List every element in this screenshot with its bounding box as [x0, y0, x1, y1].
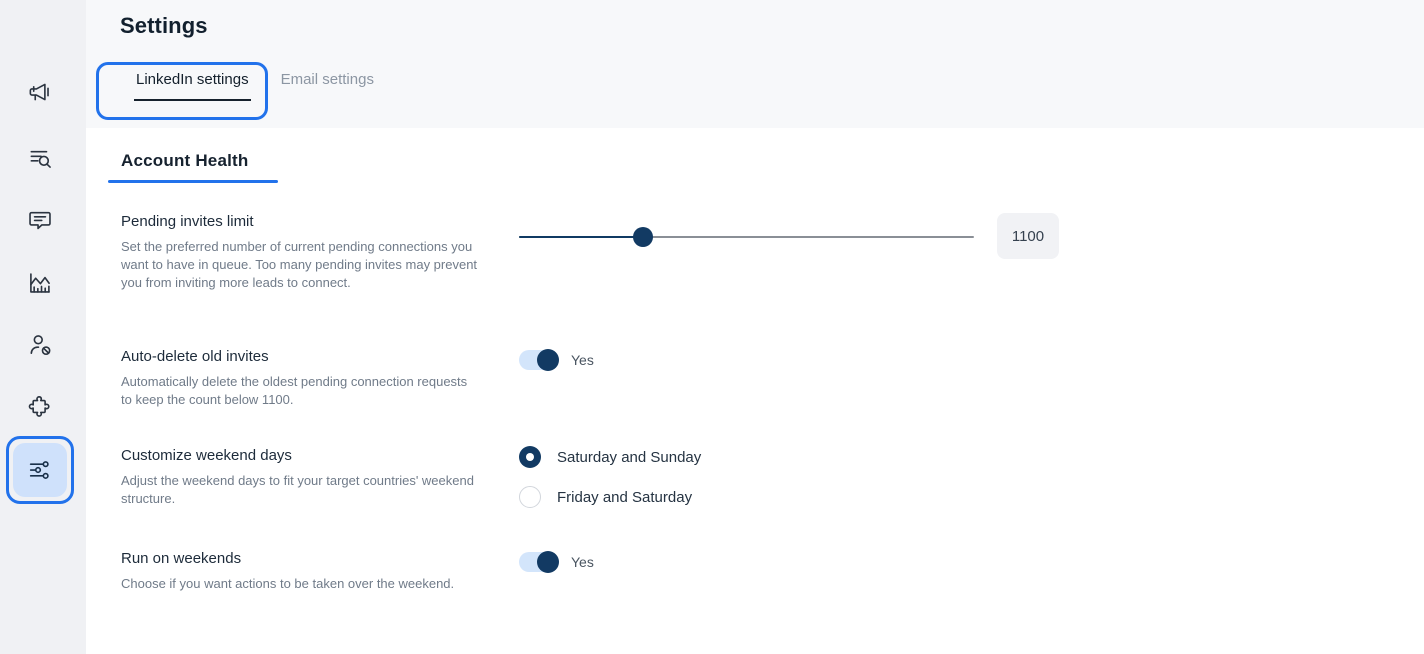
settings-content: Account Health Pending invites limit Set…: [86, 128, 1424, 654]
setting-title: Customize weekend days: [121, 446, 481, 466]
sidebar-item-integrations[interactable]: [13, 380, 67, 434]
section-header: Account Health: [108, 151, 278, 183]
radio-option-friday-saturday[interactable]: Friday and Saturday: [519, 486, 701, 508]
section-title: Account Health: [108, 151, 261, 180]
setting-title: Run on weekends: [121, 549, 481, 569]
left-nav-rail: [0, 0, 86, 654]
megaphone-icon: [27, 79, 53, 105]
page-header: Settings LinkedIn settings Email setting…: [86, 0, 1424, 128]
sliders-icon: [27, 457, 53, 483]
radio-label: Saturday and Sunday: [557, 449, 701, 466]
toggle-label: Yes: [571, 554, 594, 570]
setting-text-block: Run on weekends Choose if you want actio…: [121, 549, 481, 593]
setting-control-slider: 1100: [519, 226, 974, 248]
setting-control-toggle: Yes: [519, 350, 594, 370]
setting-control-toggle: Yes: [519, 552, 594, 572]
puzzle-piece-icon: [27, 394, 53, 420]
setting-description: Adjust the weekend days to fit your targ…: [121, 472, 481, 508]
search-list-icon: [27, 145, 53, 171]
setting-control-radio-group: Saturday and Sunday Friday and Saturday: [519, 446, 701, 526]
auto-delete-toggle-row[interactable]: Yes: [519, 350, 594, 370]
setting-description: Automatically delete the oldest pending …: [121, 373, 481, 409]
setting-text-block: Auto-delete old invites Automatically de…: [121, 347, 481, 409]
tab-bar: LinkedIn settings Email settings: [120, 61, 390, 101]
radio-icon-selected[interactable]: [519, 446, 541, 468]
setting-text-block: Pending invites limit Set the preferred …: [121, 212, 481, 292]
setting-title: Pending invites limit: [121, 212, 481, 232]
sidebar-item-settings[interactable]: [13, 443, 67, 497]
sidebar-item-leads-search[interactable]: [13, 131, 67, 185]
setting-text-block: Customize weekend days Adjust the weeken…: [121, 446, 481, 508]
tab-linkedin-settings[interactable]: LinkedIn settings: [120, 61, 265, 101]
slider-thumb[interactable]: [633, 227, 653, 247]
toggle-knob: [537, 349, 559, 371]
page-title: Settings: [120, 13, 208, 39]
sidebar-item-inbox[interactable]: [13, 193, 67, 247]
sidebar-item-blacklist[interactable]: [13, 318, 67, 372]
analytics-chart-icon: [27, 270, 53, 296]
sidebar-item-analytics[interactable]: [13, 256, 67, 310]
run-on-weekends-toggle[interactable]: [519, 552, 557, 572]
setting-description: Set the preferred number of current pend…: [121, 238, 481, 292]
settings-page: Settings LinkedIn settings Email setting…: [0, 0, 1424, 654]
slider-fill: [519, 236, 645, 238]
pending-invites-slider[interactable]: 1100: [519, 226, 974, 248]
radio-label: Friday and Saturday: [557, 489, 692, 506]
radio-icon-unselected[interactable]: [519, 486, 541, 508]
slider-value-box: 1100: [997, 213, 1059, 259]
sidebar-item-campaigns[interactable]: [13, 65, 67, 119]
tab-email-settings[interactable]: Email settings: [265, 61, 390, 101]
toggle-label: Yes: [571, 352, 594, 368]
chat-bubble-icon: [27, 207, 53, 233]
setting-title: Auto-delete old invites: [121, 347, 481, 367]
radio-option-saturday-sunday[interactable]: Saturday and Sunday: [519, 446, 701, 468]
run-on-weekends-toggle-row[interactable]: Yes: [519, 552, 594, 572]
auto-delete-toggle[interactable]: [519, 350, 557, 370]
section-underline: [108, 180, 278, 183]
blocked-user-icon: [27, 332, 53, 358]
setting-description: Choose if you want actions to be taken o…: [121, 575, 481, 593]
toggle-knob: [537, 551, 559, 573]
